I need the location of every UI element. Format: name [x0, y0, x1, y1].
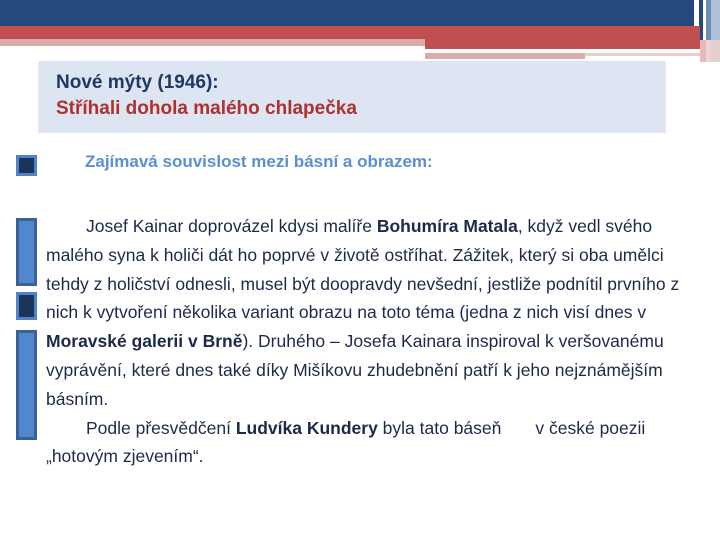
slide-subtitle: Zajímavá souvislost mezi básní a obrazem…: [85, 152, 433, 172]
bullet-square-icon-2: [16, 292, 37, 320]
body-p1-bold-1: Bohumíra Matala: [377, 216, 518, 236]
slide-title-primary: Nové mýty (1946):: [56, 70, 666, 96]
slide-body-text: Josef Kainar doprovázel kdysi malíře Boh…: [46, 212, 710, 471]
header-navy-band: [0, 0, 694, 26]
body-p2-bold-1: Ludvíka Kundery: [236, 418, 378, 438]
slide-canvas: Nové mýty (1946): Stříhali dohola malého…: [0, 0, 720, 540]
header-red-corner-stripe-3: [711, 40, 720, 62]
header-pink-band-mid: [425, 53, 585, 59]
header-red-band-right: [425, 39, 700, 49]
header-red-band: [0, 26, 700, 39]
body-p2-part-2: byla tato báseň: [378, 418, 502, 438]
bullet-square-icon-1: [16, 155, 37, 176]
slide-title-secondary: Stříhali dohola malého chlapečka: [56, 96, 666, 122]
body-paragraph-2: Podle přesvědčení Ludvíka Kundery byla t…: [46, 414, 710, 472]
header-navy-stripe-4: [711, 0, 720, 40]
slide-title-box: Nové mýty (1946): Stříhali dohola malého…: [38, 61, 666, 133]
body-paragraph-1: Josef Kainar doprovázel kdysi malíře Boh…: [46, 212, 710, 414]
header-pink-band-left: [0, 39, 425, 46]
bullet-bar-icon-2: [16, 330, 37, 440]
header-pink-band-mid-2: [585, 53, 700, 56]
bullet-bar-icon-1: [16, 218, 37, 286]
body-p2-part-1: Podle přesvědčení: [86, 418, 236, 438]
body-p1-bold-2: Moravské galerii v Brně: [46, 331, 242, 351]
body-p1-part-1: Josef Kainar doprovázel kdysi malíře: [86, 216, 377, 236]
